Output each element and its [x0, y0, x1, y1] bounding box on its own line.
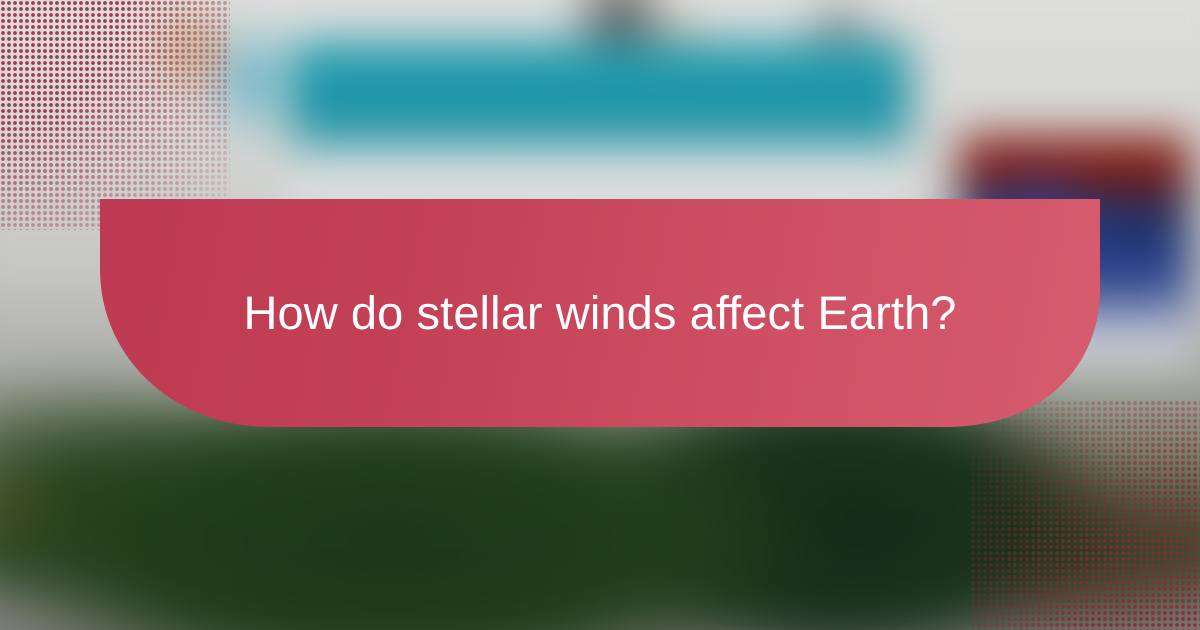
title-banner: How do stellar winds affect Earth?	[100, 199, 1100, 427]
page-title: How do stellar winds affect Earth?	[100, 285, 1100, 340]
share-card-canvas: How do stellar winds affect Earth?	[0, 0, 1200, 630]
